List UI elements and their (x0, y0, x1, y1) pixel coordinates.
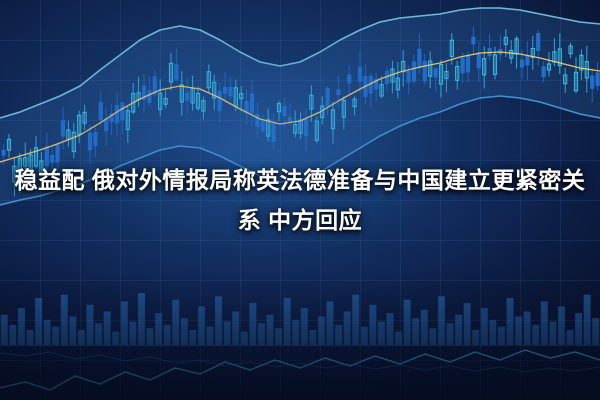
headline-text: 稳益配 俄对外情报局称英法德准备与中国建立更紧密关系 中方回应 (0, 160, 600, 240)
chart-banner: 稳益配 俄对外情报局称英法德准备与中国建立更紧密关系 中方回应 (0, 0, 600, 400)
oscillator-series (0, 350, 600, 390)
volume-bars (0, 293, 600, 346)
